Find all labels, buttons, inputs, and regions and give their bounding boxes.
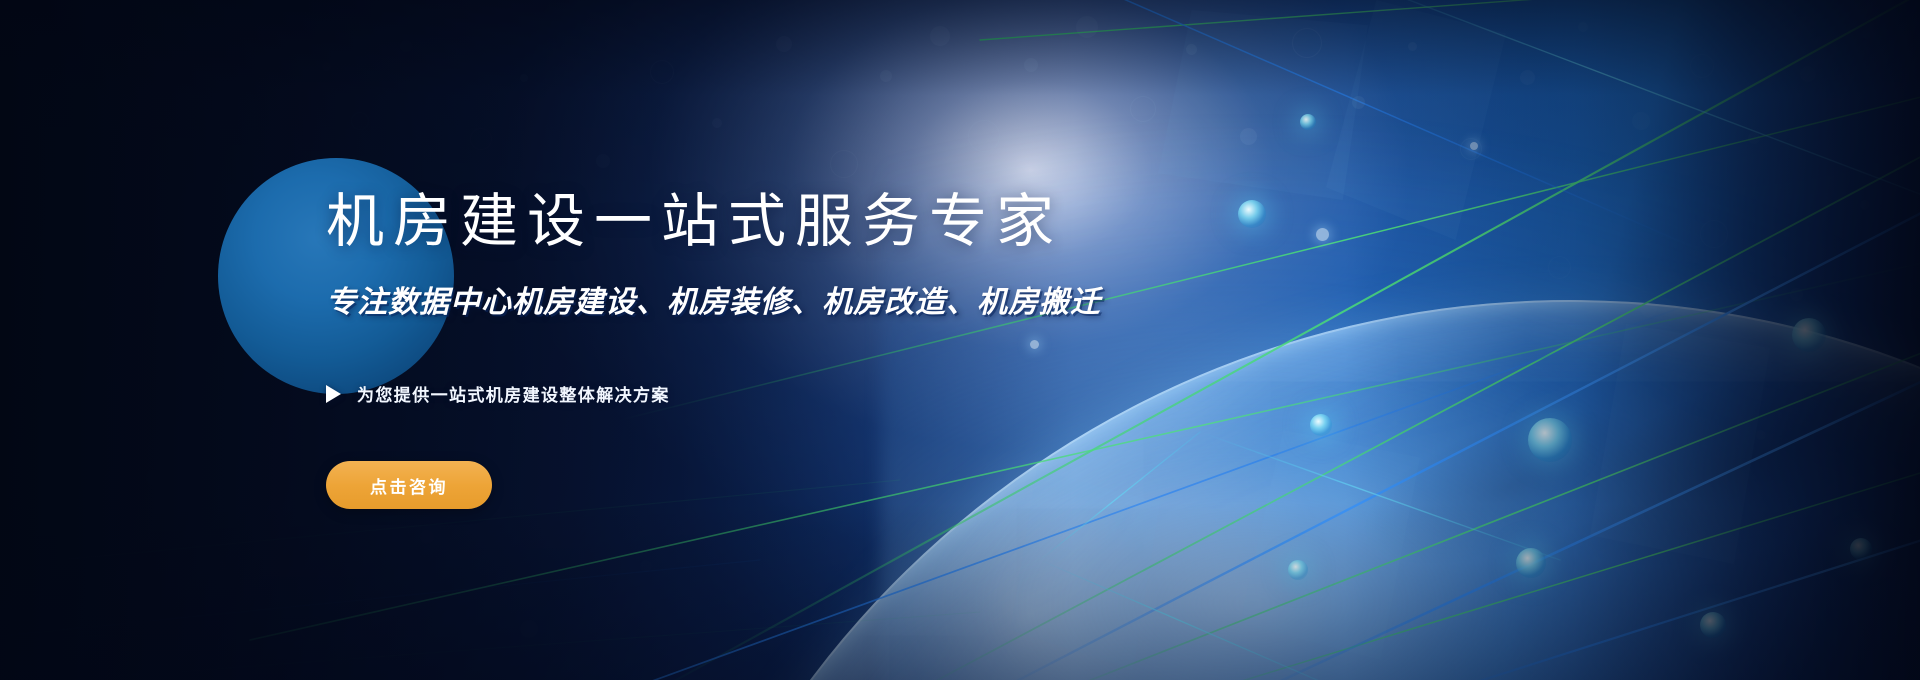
triangle-right-icon xyxy=(326,385,341,403)
consult-cta-button[interactable]: 点击咨询 xyxy=(326,461,492,509)
tagline-text: 为您提供一站式机房建设整体解决方案 xyxy=(357,381,670,406)
page-title: 机房建设一站式服务专家 xyxy=(326,192,1063,252)
hero-banner: 机房建设一站式服务专家 专注数据中心机房建设、机房装修、机房改造、机房搬迁 为您… xyxy=(0,0,1920,680)
tagline-row: 为您提供一站式机房建设整体解决方案 xyxy=(326,381,670,406)
page-subtitle: 专注数据中心机房建设、机房装修、机房改造、机房搬迁 xyxy=(326,286,1101,319)
hero-content: 机房建设一站式服务专家 专注数据中心机房建设、机房装修、机房改造、机房搬迁 为您… xyxy=(326,0,1426,680)
